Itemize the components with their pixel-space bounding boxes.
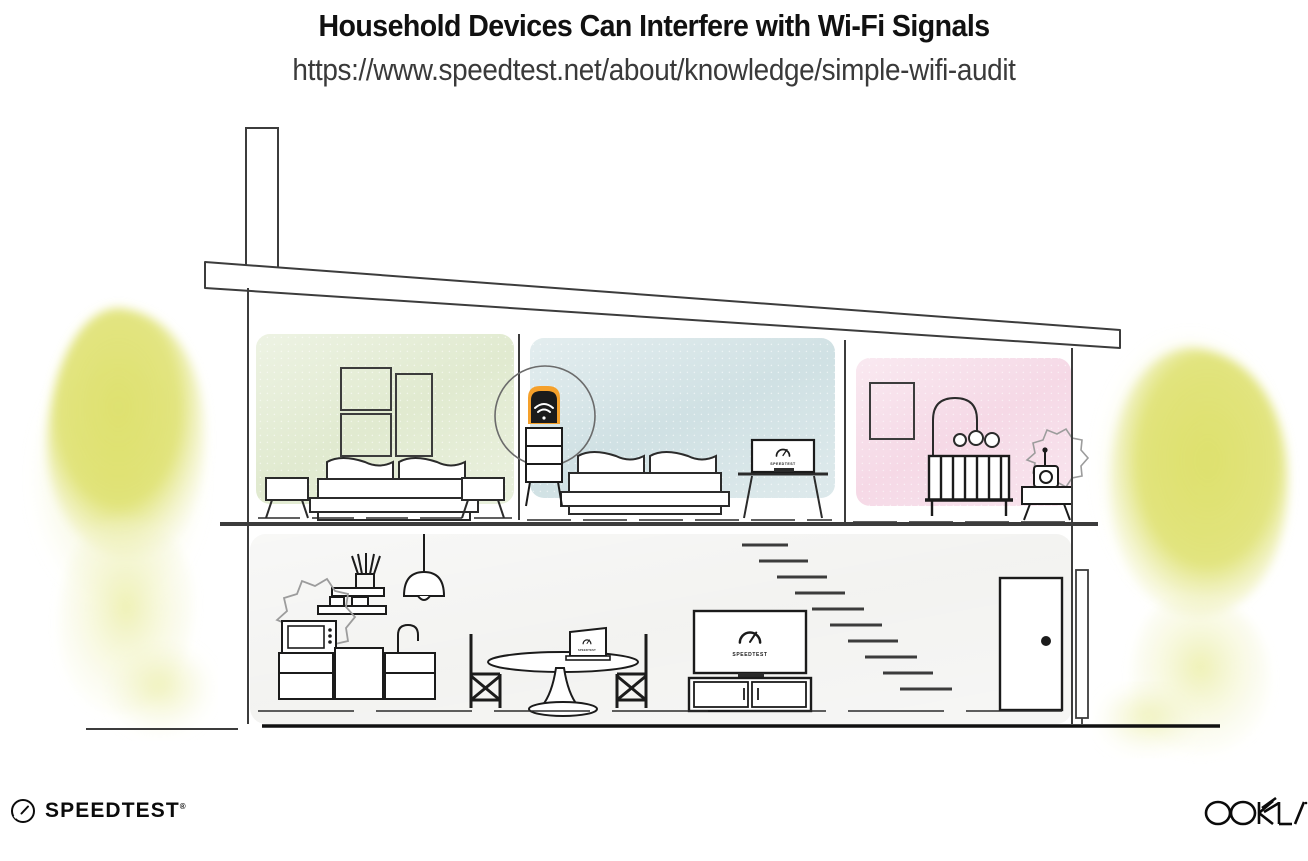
television: SPEEDTEST	[694, 611, 806, 678]
speedtest-wordmark-text: SPEEDTEST	[45, 799, 180, 822]
speedometer-icon	[10, 798, 36, 824]
door-knob	[1041, 636, 1051, 646]
front-door	[1000, 578, 1062, 710]
drain-pipe	[1076, 570, 1088, 724]
tv-screen-label: SPEEDTEST	[732, 652, 767, 658]
ookla-wordmark	[1203, 795, 1308, 831]
room-bedroom-blue: SPEEDTEST	[527, 338, 835, 520]
ookla-logo	[1203, 795, 1308, 836]
chimney	[246, 128, 278, 288]
monitor-screen-label: SPEEDTEST	[770, 462, 796, 466]
house-illustration: SPEEDTEST	[0, 0, 1308, 861]
room-bedroom-green	[256, 334, 514, 520]
room-nursery-pink	[853, 358, 1088, 522]
kitchen-cabinets	[279, 648, 435, 699]
wifi-router	[528, 386, 560, 424]
media-console	[689, 678, 811, 711]
crib	[925, 456, 1013, 516]
bed-green	[310, 458, 478, 520]
nightstand-left-green	[266, 478, 308, 518]
foliage-left	[38, 308, 208, 732]
foliage-right	[1102, 342, 1288, 754]
laptop: SPEEDTEST	[566, 628, 610, 660]
laptop-screen-label: SPEEDTEST	[578, 648, 596, 652]
desktop-monitor: SPEEDTEST	[752, 440, 814, 472]
infographic-canvas: Household Devices Can Interfere with Wi-…	[0, 0, 1308, 861]
bed-blue	[561, 452, 729, 514]
speedtest-trademark: ®	[180, 802, 186, 811]
speedtest-logo: SPEEDTEST®	[10, 798, 186, 824]
speedtest-wordmark: SPEEDTEST®	[45, 799, 186, 823]
ground-line	[86, 726, 1220, 729]
